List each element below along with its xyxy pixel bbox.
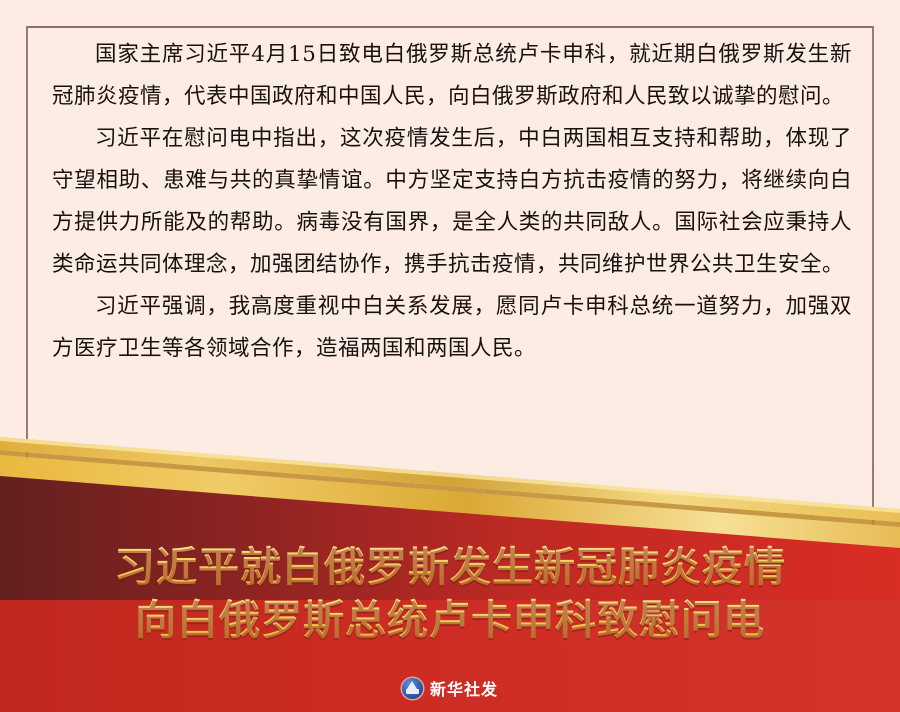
article-body: 国家主席习近平4月15日致电白俄罗斯总统卢卡申科，就近期白俄罗斯发生新冠肺炎疫情… — [52, 34, 852, 370]
article-paragraph: 国家主席习近平4月15日致电白俄罗斯总统卢卡申科，就近期白俄罗斯发生新冠肺炎疫情… — [52, 34, 852, 118]
xinhua-emblem-icon — [402, 678, 423, 699]
credit-line: 新华社发 — [0, 676, 900, 700]
headline-line-2: 向白俄罗斯总统卢卡申科致慰问电 — [0, 594, 900, 647]
article-paragraph: 习近平强调，我高度重视中白关系发展，愿同卢卡申科总统一道努力，加强双方医疗卫生等… — [52, 286, 852, 370]
frame-rule-left — [26, 26, 28, 486]
frame-rule-top — [26, 26, 874, 28]
news-poster: 国家主席习近平4月15日致电白俄罗斯总统卢卡申科，就近期白俄罗斯发生新冠肺炎疫情… — [0, 0, 900, 712]
headline-line-1: 习近平就白俄罗斯发生新冠肺炎疫情 — [0, 541, 900, 594]
credit-text: 新华社发 — [430, 676, 498, 700]
article-paragraph: 习近平在慰问电中指出，这次疫情发生后，中白两国相互支持和帮助，体现了守望相助、患… — [52, 118, 852, 286]
headline: 习近平就白俄罗斯发生新冠肺炎疫情 向白俄罗斯总统卢卡申科致慰问电 — [0, 541, 900, 647]
frame-rule-right — [872, 26, 874, 531]
